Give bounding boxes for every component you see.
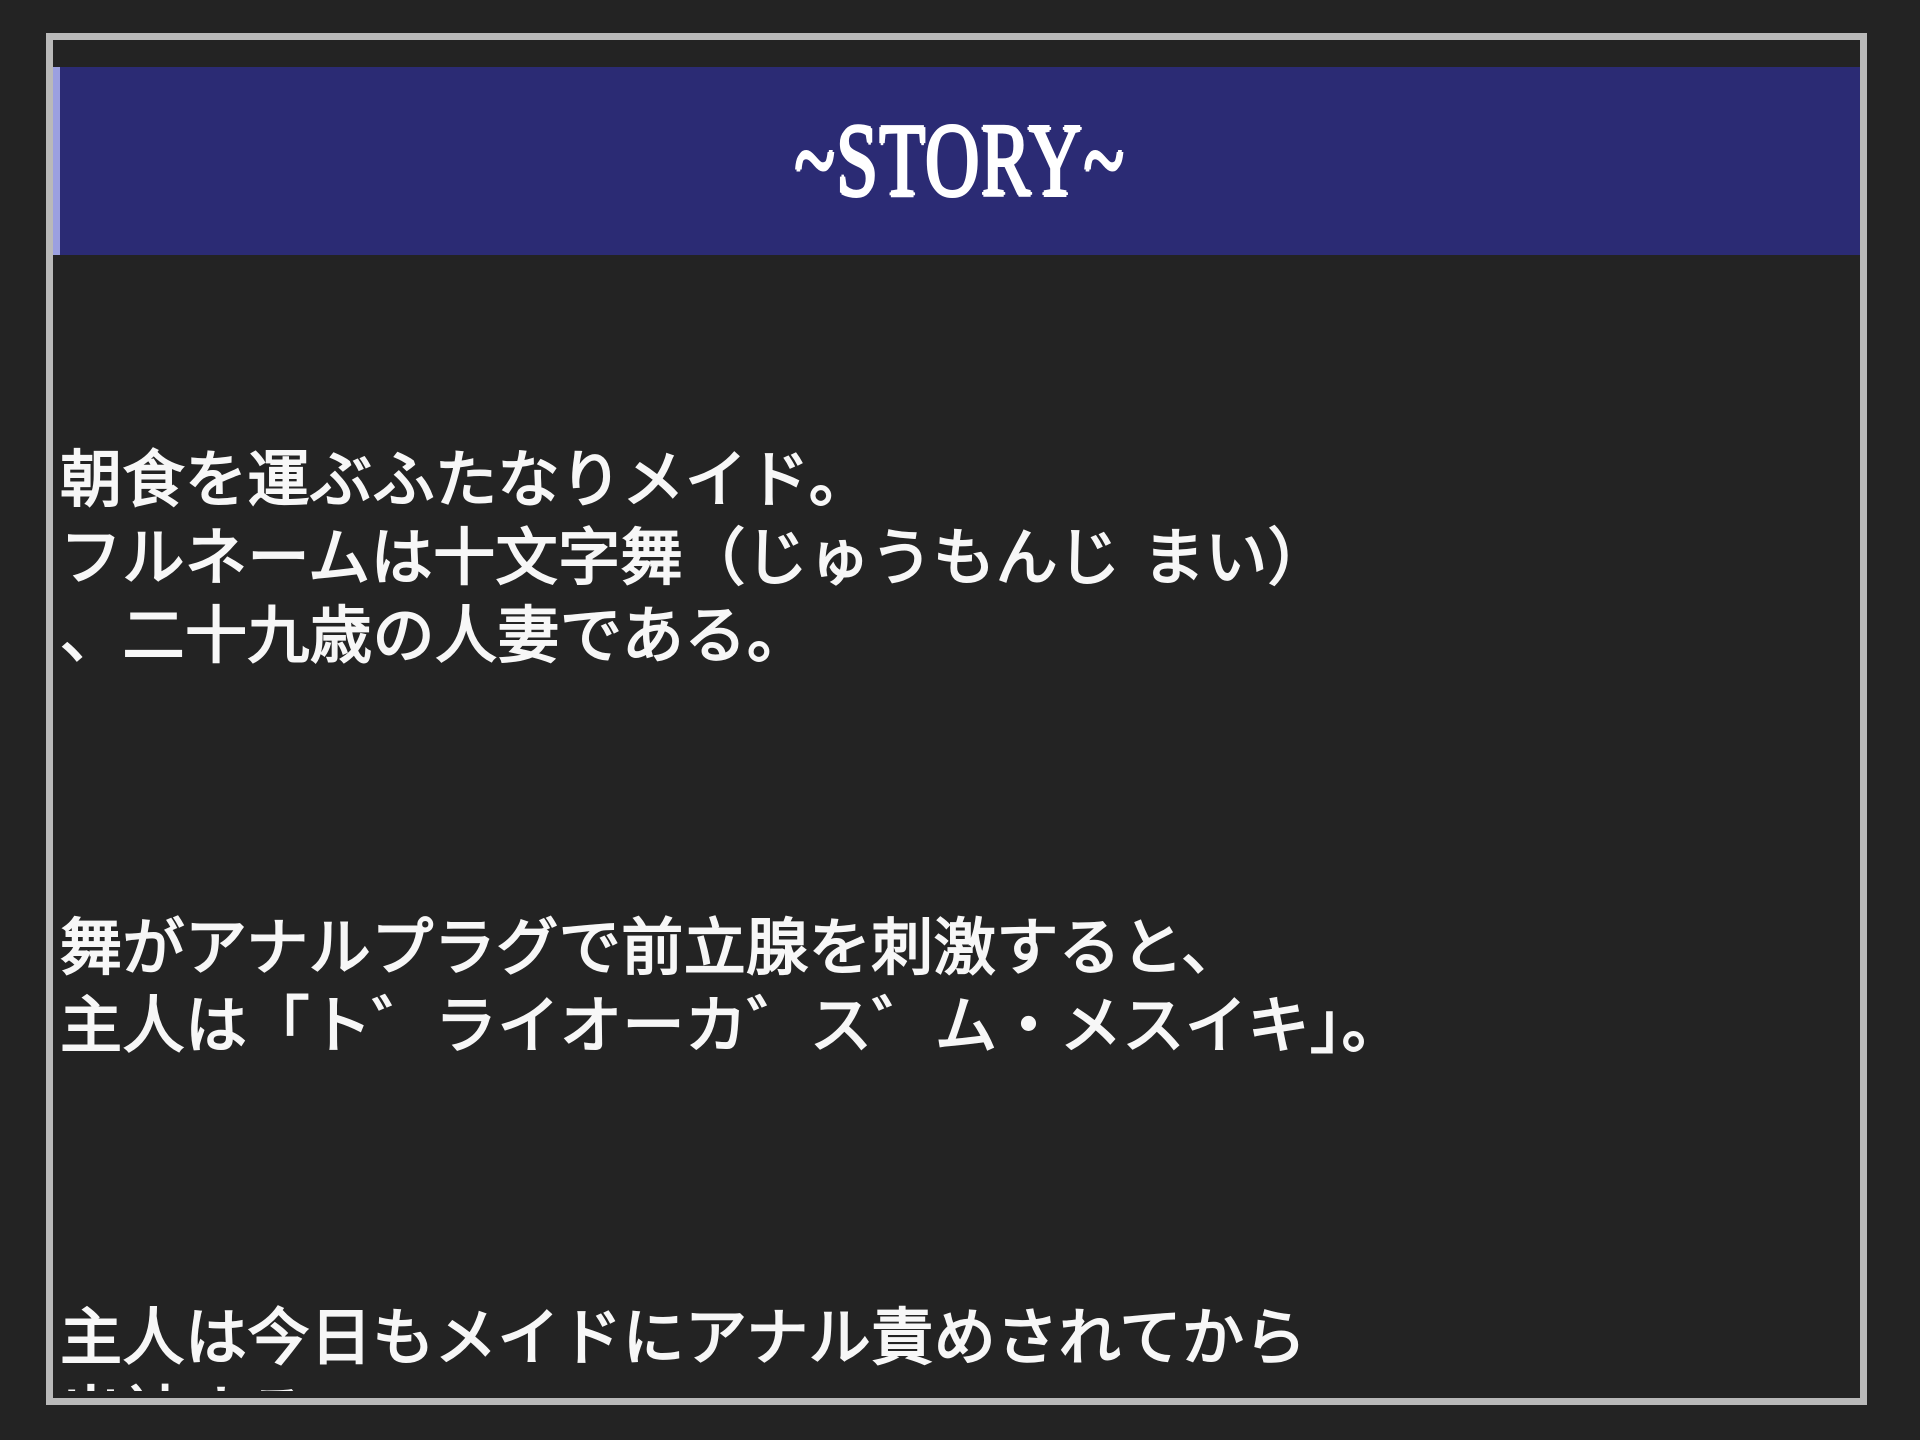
story-paragraph-3: 主人は今日もメイドにアナル責めされてから 出社する。 — [60, 1299, 1853, 1391]
story-title-banner: ~STORY~ — [53, 67, 1860, 255]
story-panel-frame: ~STORY~ 朝食を運ぶふたなりメイド。 フルネームは十文字舞（じゅうもんじ … — [46, 33, 1867, 1405]
page-title: ~STORY~ — [794, 109, 1125, 213]
story-screen: ~STORY~ 朝食を運ぶふたなりメイド。 フルネームは十文字舞（じゅうもんじ … — [0, 0, 1920, 1440]
story-paragraph-1: 朝食を運ぶふたなりメイド。 フルネームは十文字舞（じゅうもんじ まい） 、二十九… — [60, 441, 1853, 675]
story-paragraph-2: 舞がアナルプラグで前立腺を刺激すると、 主人は「ト゛ライオーカ゛ス゛ム・メスイキ… — [60, 909, 1853, 1065]
story-text-block: 朝食を運ぶふたなりメイド。 フルネームは十文字舞（じゅうもんじ まい） 、二十九… — [60, 285, 1853, 1391]
